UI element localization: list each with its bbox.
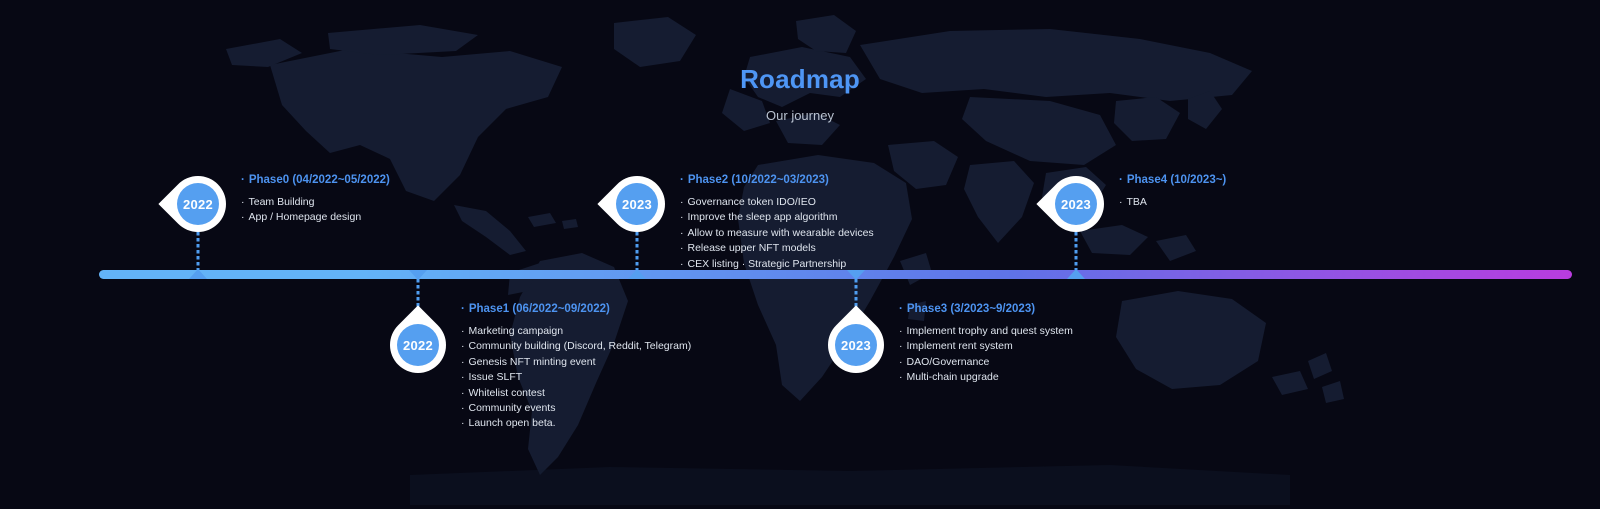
phase-item: Launch open beta. [461,416,691,431]
phase-text-block-phase1: Phase1 (06/2022~09/2022)Marketing campai… [461,303,691,432]
phase-item: Allow to measure with wearable devices [680,226,874,241]
phase-item-list-phase2: Governance token IDO/IEOImprove the slee… [680,195,874,272]
pin-year-label: 2022 [183,197,213,212]
timeline-marker-triangle [189,269,207,279]
phase-text-block-phase0: Phase0 (04/2022~05/2022)Team BuildingApp… [241,174,390,226]
phase-item: DAO/Governance [899,355,1073,370]
pin-core: 2023 [1055,183,1097,225]
phase-item: Issue SLFT [461,370,691,385]
phase-item: Genesis NFT minting event [461,355,691,370]
map-pin-icon-phase3[interactable]: 2023 [816,305,895,384]
timeline-marker-triangle [628,269,646,279]
phase-item-list-phase0: Team BuildingApp / Homepage design [241,195,390,226]
phase-heading-phase2: Phase2 (10/2022~03/2023) [680,174,874,186]
phase-item: Improve the sleep app algorithm [680,210,874,225]
map-pin-icon-phase1[interactable]: 2022 [378,305,457,384]
header: Roadmap Our journey [0,64,1600,123]
phase-item: Whitelist contest [461,386,691,401]
phase-item: TBA [1119,195,1226,210]
map-pin-icon-phase2[interactable]: 2023 [597,164,676,243]
timeline-marker-triangle [1067,269,1085,279]
phase-item: Marketing campaign [461,324,691,339]
phase-item: Governance token IDO/IEO [680,195,874,210]
page-title: Roadmap [0,64,1600,95]
phase-heading-phase4: Phase4 (10/2023~) [1119,174,1226,186]
phase-heading-phase1: Phase1 (06/2022~09/2022) [461,303,691,315]
connector-dotted-line [636,232,639,270]
phase-item: Community building (Discord, Reddit, Tel… [461,339,691,354]
phase-item: Implement trophy and quest system [899,324,1073,339]
page-subtitle: Our journey [0,108,1600,123]
pin-year-label: 2023 [1061,197,1091,212]
phase-text-block-phase2: Phase2 (10/2022~03/2023)Governance token… [680,174,874,272]
phase-item: Implement rent system [899,339,1073,354]
phase-item-list-phase4: TBA [1119,195,1226,210]
phase-heading-phase0: Phase0 (04/2022~05/2022) [241,174,390,186]
map-pin-icon-phase4[interactable]: 2023 [1036,164,1115,243]
pin-core: 2022 [177,183,219,225]
map-pin-icon-phase0[interactable]: 2022 [158,164,237,243]
phase-item-list-phase3: Implement trophy and quest systemImpleme… [899,324,1073,386]
timeline-bar [99,270,1572,279]
phase-item: Team Building [241,195,390,210]
phase-item: Release upper NFT models [680,241,874,256]
phase-item: Multi-chain upgrade [899,370,1073,385]
pin-core: 2023 [616,183,658,225]
phase-item-list-phase1: Marketing campaignCommunity building (Di… [461,324,691,432]
pin-core: 2022 [397,324,439,366]
phase-heading-phase3: Phase3 (3/2023~9/2023) [899,303,1073,315]
phase-item: Community events [461,401,691,416]
pin-year-label: 2022 [403,338,433,353]
pin-year-label: 2023 [841,338,871,353]
phase-text-block-phase4: Phase4 (10/2023~)TBA [1119,174,1226,210]
connector-dotted-line [1075,232,1078,270]
phase-text-block-phase3: Phase3 (3/2023~9/2023)Implement trophy a… [899,303,1073,386]
connector-dotted-line [197,232,200,270]
pin-year-label: 2023 [622,197,652,212]
phase-item: App / Homepage design [241,210,390,225]
pin-core: 2023 [835,324,877,366]
